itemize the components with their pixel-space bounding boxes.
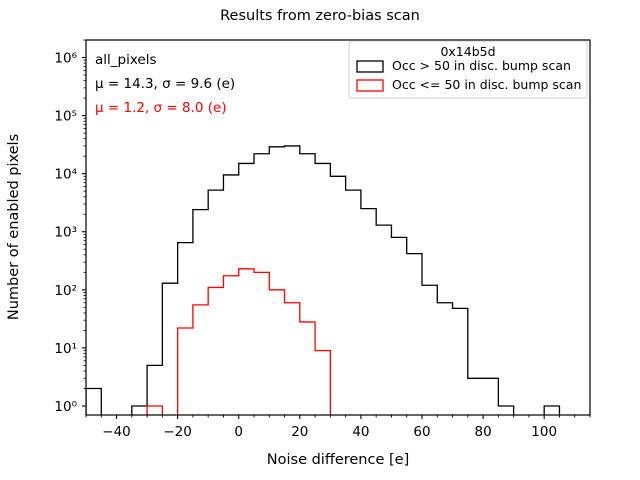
page-title: Results from zero-bias scan [220,8,420,24]
x-axis-ticks: −40−20020406080100 [86,415,590,440]
legend: 0x14b5d Occ > 50 in disc. bump scanOcc <… [349,41,587,98]
y-tick-label: 10³ [54,225,77,241]
y-tick-label: 10⁴ [54,167,77,183]
y-tick-label: 10² [54,283,77,299]
y-tick-label: 10⁵ [54,109,77,125]
x-axis-label: Noise difference [e] [267,452,409,468]
x-tick-label: 40 [352,424,369,440]
histogram-plot: Results from zero-bias scan −40−20020406… [0,0,640,480]
legend-title: 0x14b5d [440,44,495,59]
y-axis-label: Number of enabled pixels [6,134,22,320]
y-axis-ticks: 10⁰10¹10²10³10⁴10⁵10⁶ [54,40,86,415]
annotation-line-2: μ = 1.2, σ = 8.0 (e) [95,100,227,116]
annotation-line-1: μ = 14.3, σ = 9.6 (e) [95,76,235,92]
x-tick-label: 20 [291,424,308,440]
annotation-line-0: all_pixels [95,52,157,68]
legend-label-0: Occ > 50 in disc. bump scan [392,58,571,73]
y-tick-label: 10¹ [54,341,77,357]
legend-label-1: Occ <= 50 in disc. bump scan [392,77,581,92]
figure-canvas: Results from zero-bias scan −40−20020406… [0,0,640,480]
x-tick-label: −40 [102,424,131,440]
x-tick-label: 0 [234,424,243,440]
x-tick-label: 80 [474,424,491,440]
x-tick-label: −20 [163,424,192,440]
x-tick-label: 60 [413,424,430,440]
y-tick-label: 10⁶ [54,50,77,66]
x-tick-label: 100 [531,424,557,440]
y-tick-label: 10⁰ [54,399,77,415]
